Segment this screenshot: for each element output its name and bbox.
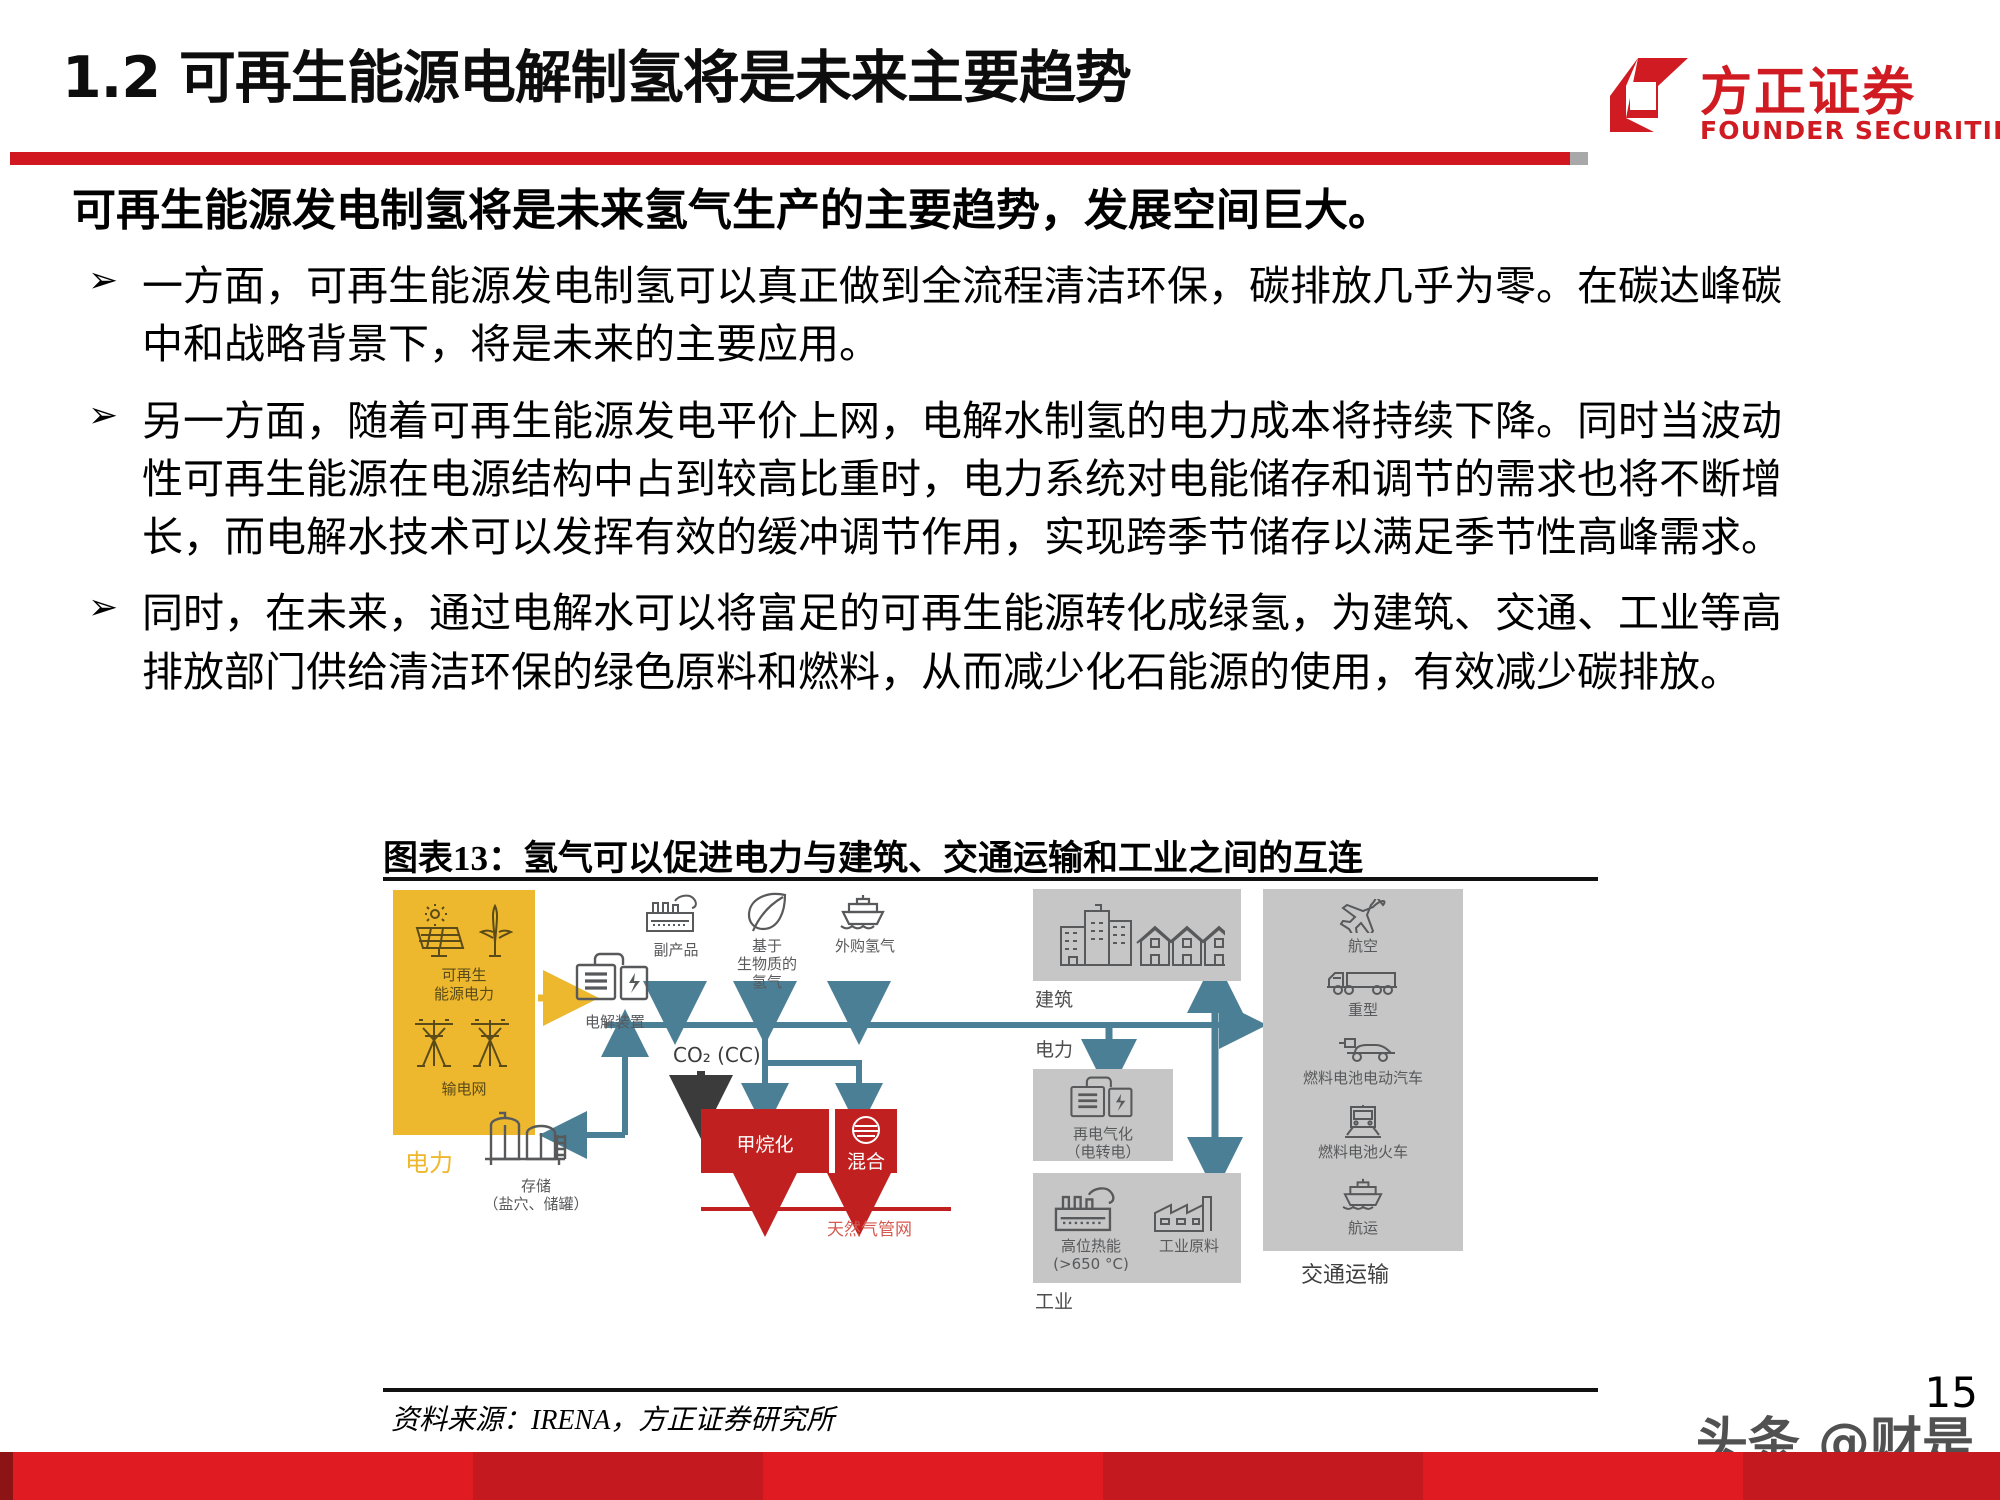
title-underline-cap — [1570, 152, 1588, 165]
gas-grid-label: 天然气管网 — [827, 1215, 912, 1240]
blending-label: 混合 — [835, 1147, 897, 1174]
electrolyser-caption: 电解装置 — [553, 1013, 677, 1031]
slide-body: 可再生能源发电制氢将是未来氢气生产的主要趋势，发展空间巨大。 ➢ 一方面，可再生… — [0, 182, 2000, 701]
purchased-h2-caption: 外购氢气 — [815, 937, 915, 955]
grid-caption: 输电网 — [393, 1080, 535, 1099]
logo-text-en: FOUNDER SECURITIES — [1700, 116, 2000, 145]
buildings-box — [1033, 889, 1241, 981]
bullet-item-3: ➢ 同时，在未来，通过电解水可以将富足的可再生能源转化成绿氢，为建筑、交通、工业… — [0, 584, 2000, 700]
bullet-1-line-1: 一方面，可再生能源发电制氢可以真正做到全流程清洁环保，碳排放几乎为零。在碳达峰碳 — [142, 257, 2000, 315]
hydrogen-sector-coupling-diagram: 可再生 能源电力 输电网 电力 电解装置 — [383, 885, 1598, 1385]
figure-rule-bottom — [383, 1388, 1598, 1392]
fc-train-caption: 燃料电池火车 — [1263, 1143, 1463, 1161]
high-heat-factory-icon — [1051, 1183, 1129, 1237]
bullet-2-line-2: 性可再生能源在电源结构中占到较高比重时，电力系统对电能储存和调节的需求也将不断增 — [142, 450, 2000, 508]
byproduct-factory-icon — [645, 891, 707, 937]
figure-title: 图表13：氢气可以促进电力与建筑、交通运输和工业之间的互连 — [383, 830, 1598, 881]
blending-mix-icon — [851, 1115, 881, 1145]
logo-text-cn: 方正证券 — [1700, 50, 1916, 125]
purchased-hydrogen-ship-icon — [835, 893, 891, 935]
bullet-arrow-icon: ➢ — [88, 590, 118, 626]
transport-box: 航空 重型 燃料电池电动 — [1263, 889, 1463, 1251]
shipping-icon — [1337, 1177, 1389, 1215]
high-heat-caption: 高位热能 (>650 °C) — [1039, 1237, 1143, 1273]
transmission-grid-icon — [409, 1012, 519, 1072]
power-source-block: 可再生 能源电力 输电网 — [393, 890, 535, 1135]
power-block-label: 电力 — [405, 1143, 453, 1178]
bullet-item-2: ➢ 另一方面，随着可再生能源发电平价上网，电解水制氢的电力成本将持续下降。同时当… — [0, 392, 2000, 567]
renewable-power-caption: 可再生 能源电力 — [393, 966, 535, 1004]
storage-caption: 存储 （盐穴、储罐） — [461, 1177, 611, 1213]
power-sector-label: 电力 — [1035, 1035, 1073, 1062]
figure-13: 图表13：氢气可以促进电力与建筑、交通运输和工业之间的互连 — [383, 830, 1598, 1445]
bullet-arrow-icon: ➢ — [88, 263, 118, 299]
blending-box: 混合 — [835, 1109, 897, 1173]
bullet-2-line-3: 长，而电解水技术可以发挥有效的缓冲调节作用，实现跨季节储存以满足季节性高峰需求。 — [142, 508, 2000, 566]
fcev-car-icon — [1333, 1035, 1395, 1065]
reelectrification-icon — [1065, 1075, 1143, 1123]
biomass-leaf-icon — [739, 889, 793, 935]
founder-securities-logo: 方正证券 FOUNDER SECURITIES — [1608, 42, 1978, 154]
bullet-1-line-2: 中和战略背景下，将是未来的主要应用。 — [142, 315, 2000, 373]
gas-grid-line — [701, 1207, 951, 1211]
aviation-plane-icon — [1339, 899, 1387, 933]
methanation-label: 甲烷化 — [701, 1130, 829, 1157]
buildings-icon — [1055, 903, 1225, 969]
page-title: 1.2 可再生能源电解制氢将是未来主要趋势 — [62, 32, 1131, 114]
industry-label: 工业 — [1035, 1287, 1073, 1314]
figure-source: 资料来源：IRENA，方正证券研究所 — [391, 1398, 834, 1438]
byproduct-caption: 副产品 — [631, 941, 721, 959]
transport-label: 交通运输 — [1301, 1257, 1389, 1289]
buildings-label: 建筑 — [1035, 985, 1073, 1012]
bullet-3-line-1: 同时，在未来，通过电解水可以将富足的可再生能源转化成绿氢，为建筑、交通、工业等高 — [142, 584, 2000, 642]
reelectrification-box: 再电气化 （电转电） — [1033, 1069, 1173, 1161]
fuel-cell-train-icon — [1341, 1103, 1385, 1139]
fcev-caption: 燃料电池电动汽车 — [1263, 1069, 1463, 1087]
biomass-h2-caption: 基于 生物质的 氢气 — [717, 937, 817, 991]
shipping-caption: 航运 — [1263, 1219, 1463, 1237]
methanation-box: 甲烷化 — [701, 1109, 829, 1173]
co2-cc-label: CO₂ (CC) — [673, 1043, 761, 1067]
storage-tanks-icon — [483, 1107, 579, 1173]
aviation-caption: 航空 — [1263, 937, 1463, 955]
heavy-duty-truck-icon — [1325, 967, 1399, 997]
bullet-2-line-1: 另一方面，随着可再生能源发电平价上网，电解水制氢的电力成本将持续下降。同时当波动 — [142, 392, 2000, 450]
lead-paragraph: 可再生能源发电制氢将是未来氢气生产的主要趋势，发展空间巨大。 — [0, 182, 2000, 239]
heavy-duty-caption: 重型 — [1263, 1001, 1463, 1019]
solar-and-wind-icon — [409, 904, 519, 962]
bullet-3-line-2: 排放部门供给清洁环保的绿色原料和燃料，从而减少化石能源的使用，有效减少碳排放。 — [142, 643, 2000, 701]
reelectrification-caption: 再电气化 （电转电） — [1033, 1125, 1173, 1161]
bullet-item-1: ➢ 一方面，可再生能源发电制氢可以真正做到全流程清洁环保，碳排放几乎为零。在碳达… — [0, 257, 2000, 373]
industry-feedstock-icon — [1151, 1191, 1221, 1235]
industry-feedstock-caption: 工业原料 — [1143, 1237, 1235, 1255]
footer-bar — [0, 1452, 2000, 1500]
figure-rule-top — [383, 877, 1598, 881]
title-underline-rule — [10, 152, 1570, 165]
logo-mark-icon — [1608, 56, 1692, 134]
bullet-arrow-icon: ➢ — [88, 398, 118, 434]
electrolyser-icon — [573, 951, 657, 1007]
slide-header: 1.2 可再生能源电解制氢将是未来主要趋势 方正证券 FOUNDER SECUR… — [0, 0, 2000, 175]
industry-box: 高位热能 (>650 °C) 工业原料 — [1033, 1173, 1241, 1283]
